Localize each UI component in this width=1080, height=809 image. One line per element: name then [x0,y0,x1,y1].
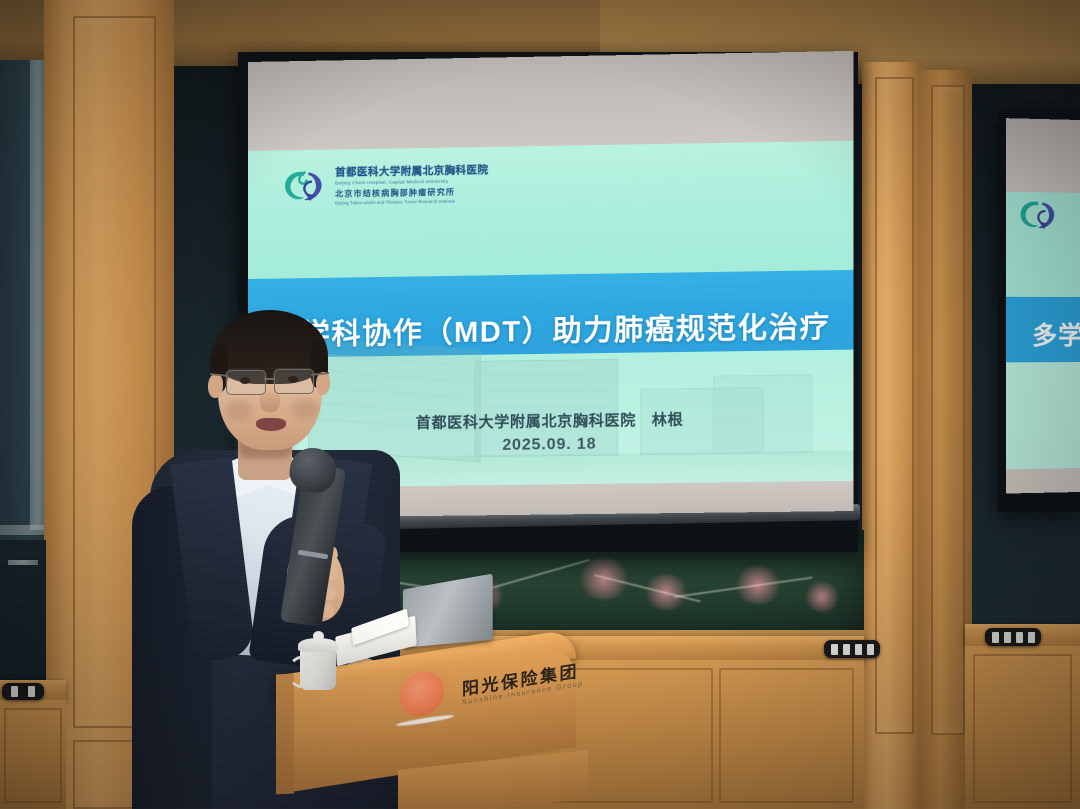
window-mullion [8,560,38,565]
av-control-panel-left[interactable] [2,683,44,700]
wood-column-center-right [862,62,922,809]
slide-letterbox [248,51,853,151]
tea-mug-handle [288,656,314,688]
av-control-panel-center[interactable] [824,640,880,658]
slide-mint-top [248,141,853,279]
speaker-nose [260,388,280,412]
speaker-eye-right [288,376,298,383]
av-control-panel-right[interactable] [985,628,1041,646]
podium-left-side [276,674,294,795]
slide-secondary: 多学 [1006,118,1080,493]
slide2-mint-bottom [1006,362,1080,469]
cheek-shadow-left [226,400,252,420]
speaker-ear-left [208,374,223,398]
cheek-shadow-right [292,399,318,419]
slide2-letterbox [1006,118,1080,192]
presentation-photo: 首都医科大学附属北京胸科医院 Beijing Chest Hospital, C… [0,0,1080,809]
speaker-eye-left [240,377,250,384]
slide2-logo-icon [1016,197,1060,238]
swoosh-logo-icon [280,166,328,205]
slide2-title-fragment: 多学 [1032,316,1080,352]
speaker-mouth [256,418,286,431]
logo-name-cn: 首都医科大学附属北京胸科医院 [335,162,488,180]
hospital-logo: 首都医科大学附属北京胸科医院 Beijing Chest Hospital, C… [280,162,488,207]
cabinet-right [965,646,1080,809]
cabinet-left [0,700,66,809]
slide2-bottom-bar [1006,468,1080,494]
tea-mug-knob [313,631,324,641]
speaker-ear-right [316,372,330,395]
